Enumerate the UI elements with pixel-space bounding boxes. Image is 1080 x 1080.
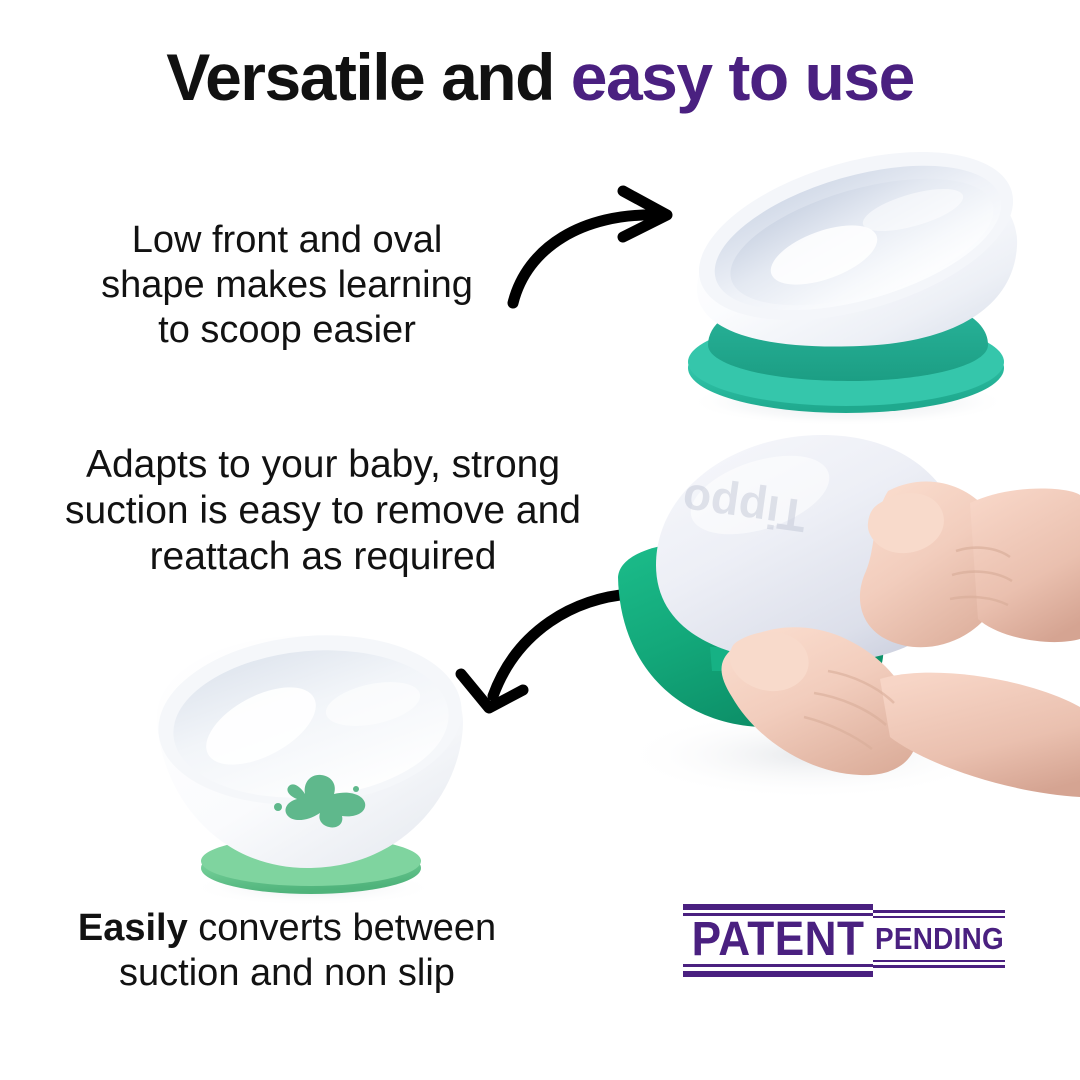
badge-patent-text: PATENT	[691, 915, 866, 964]
badge-pending-rule-top-1	[873, 910, 1005, 913]
caption-low-front-oval-shape: Low front and oval shape makes learning …	[52, 218, 522, 352]
badge-pending-block: PENDING	[873, 910, 1005, 972]
caption-bottom-bold-word: Easily	[78, 907, 188, 949]
caption-adapts-to-your-baby: Adapts to your baby, strong suction is e…	[18, 442, 628, 580]
badge-pending-rule-bottom-2	[873, 965, 1005, 968]
badge-patent-block: PATENT	[683, 904, 873, 978]
product-image-tilted-scoop-bowl	[648, 150, 1048, 425]
infographic-page: Versatile and easy to use Low front and …	[0, 0, 1080, 1080]
badge-pending-rule-top-2	[873, 916, 1005, 918]
badge-rule-top-thick	[683, 904, 873, 910]
hand-upper-forearm	[970, 488, 1080, 642]
patent-pending-badge: PATENT PENDING	[683, 904, 1005, 978]
badge-rule-bottom-thin	[683, 964, 873, 967]
badge-rule-bottom-thick	[683, 971, 873, 977]
product-image-upright-bowl-non-slip	[145, 630, 475, 905]
title-part-purple: easy to use	[571, 40, 914, 114]
badge-pending-rule-bottom-1	[873, 960, 1005, 962]
title-part-black: Versatile and	[166, 40, 571, 114]
badge-pending-text: PENDING	[875, 920, 992, 958]
product-image-hands-removing-suction-base: Tippo	[560, 425, 1080, 825]
caption-easily-converts: Easily converts between suction and non …	[32, 906, 542, 996]
page-title: Versatile and easy to use	[0, 44, 1080, 110]
